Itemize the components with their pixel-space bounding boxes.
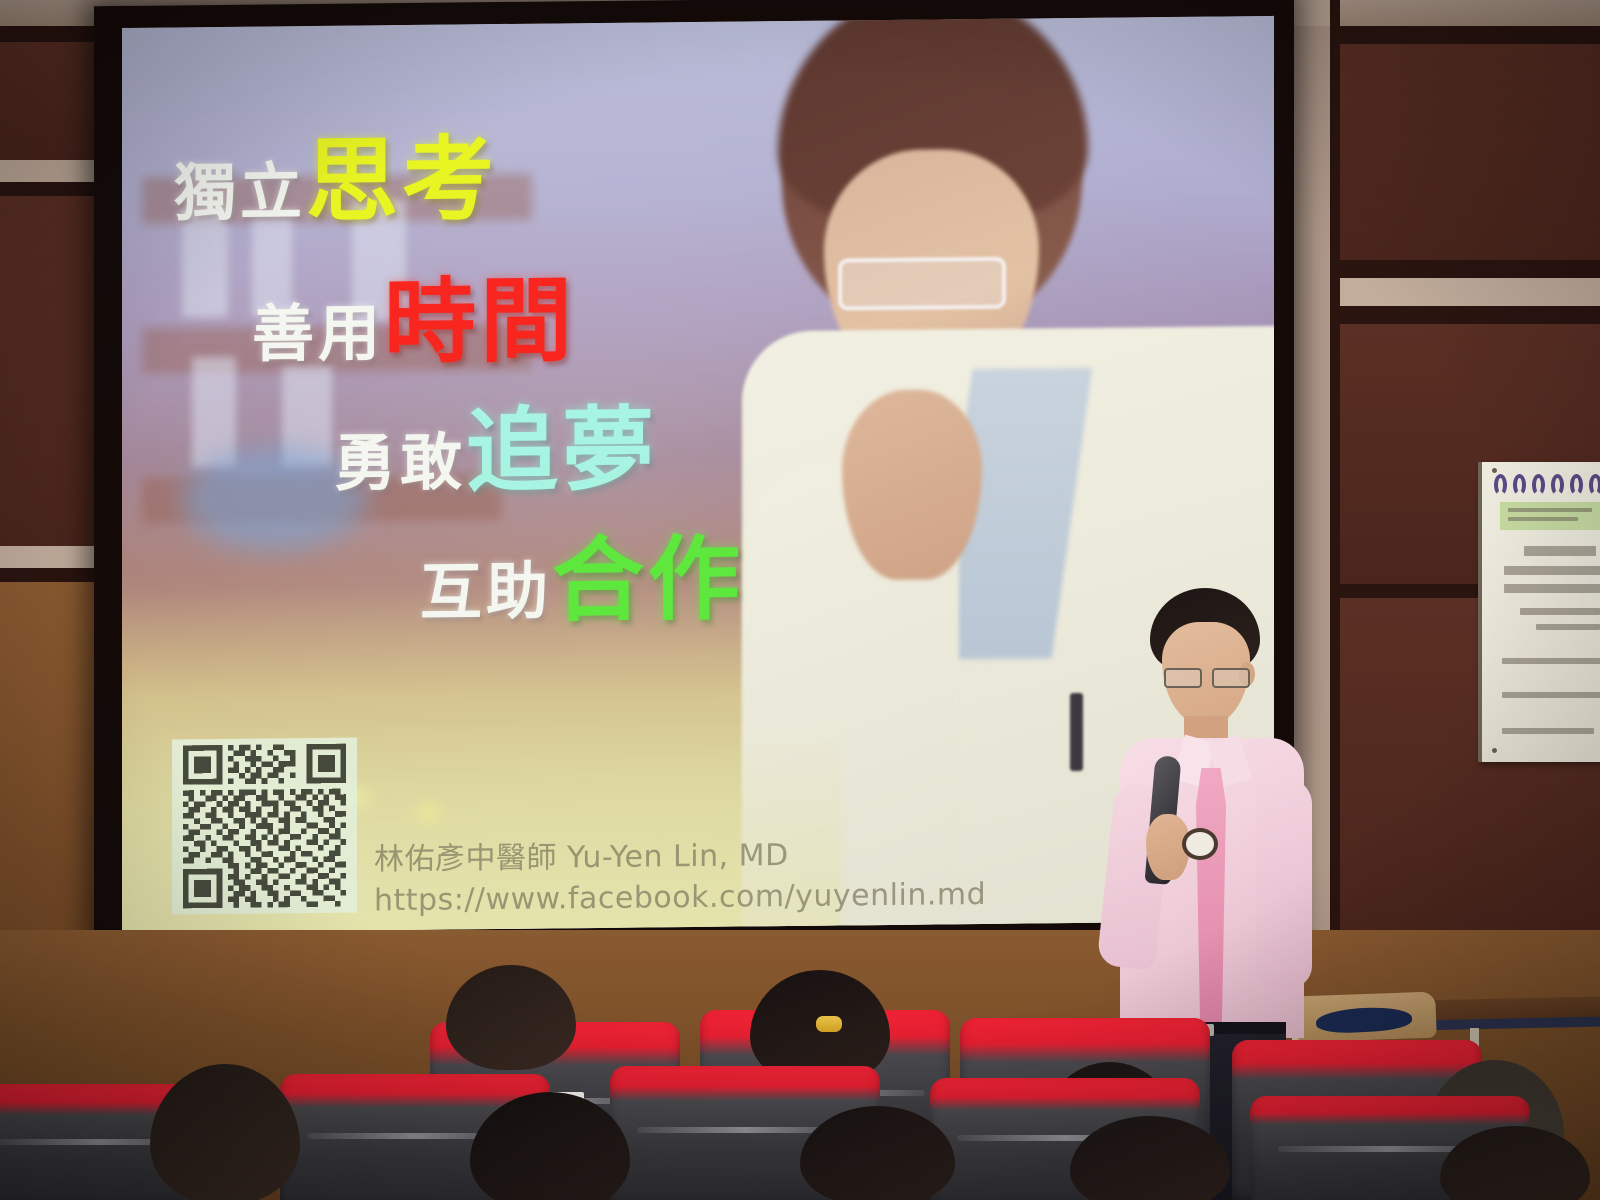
slide-line-2-emphasis: 時間 <box>384 267 576 376</box>
slide-line-1: 獨立思考 <box>174 134 498 229</box>
slide-line-3: 勇敢追夢 <box>334 404 658 499</box>
wall-divider <box>1330 26 1600 44</box>
slide-line-4-emphasis: 合作 <box>552 525 744 634</box>
slide-line-4-prefix: 互助 <box>420 554 552 628</box>
hair-clip-icon <box>816 1016 842 1032</box>
slide-credit-url: https://www.facebook.com/yuyenlin.md <box>374 874 986 921</box>
wristwatch-icon <box>1182 828 1218 860</box>
wall-divider <box>1330 306 1600 324</box>
wall-panel <box>1330 44 1600 260</box>
slide-credit: 林佑彥中醫師 Yu-Yen Lin, MD https://www.facebo… <box>374 834 986 921</box>
poster-green-header <box>1500 502 1600 530</box>
slide-credit-name: 林佑彥中醫師 Yu-Yen Lin, MD <box>374 834 986 881</box>
presenter-left-arm <box>1256 778 1312 988</box>
slide-line-3-emphasis: 追夢 <box>466 396 658 505</box>
qr-code-svg <box>178 744 351 909</box>
presenter-necktie <box>1196 768 1226 1030</box>
slide-line-4: 互助合作 <box>420 533 744 628</box>
projection-screen: 獨立思考 善用時間 勇敢追夢 互助合作 <box>122 16 1274 933</box>
glasses-icon <box>1162 668 1250 684</box>
pushpin-icon <box>1492 748 1497 753</box>
qr-code-icon <box>172 738 357 915</box>
wall-band <box>1330 278 1600 306</box>
wall-pillar-edge <box>1330 0 1340 950</box>
slide-line-1-emphasis: 思考 <box>306 126 498 235</box>
lecture-hall-photo: 獨立思考 善用時間 勇敢追夢 互助合作 <box>0 0 1600 1200</box>
slide-line-1-prefix: 獨立 <box>174 155 306 229</box>
wall-poster[interactable] <box>1478 462 1600 762</box>
wall-divider <box>1330 260 1600 278</box>
slide-line-2-prefix: 善用 <box>252 296 384 370</box>
slide-line-2: 善用時間 <box>252 275 576 370</box>
pushpin-icon <box>1492 468 1497 473</box>
spiral-binding-icon <box>1494 474 1600 496</box>
slide-line-3-prefix: 勇敢 <box>334 425 466 499</box>
